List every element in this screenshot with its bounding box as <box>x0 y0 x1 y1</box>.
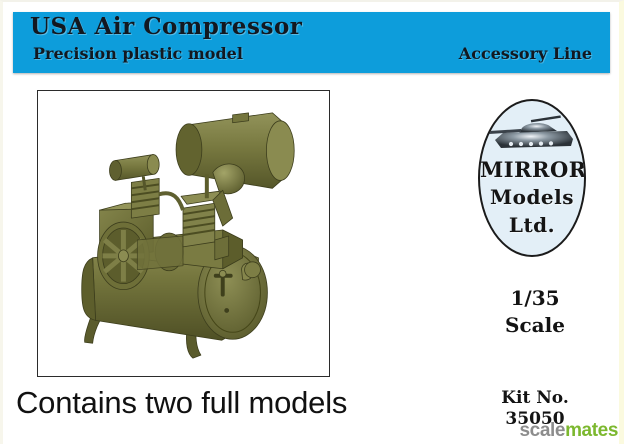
watermark-part-scale: scale <box>520 420 566 441</box>
tank-hull <box>495 131 573 148</box>
logo-line-ltd: Ltd. <box>480 213 584 237</box>
drive-belt-guard <box>137 236 183 270</box>
page-title: USA Air Compressor <box>30 13 302 40</box>
small-drum-pipe <box>143 176 145 190</box>
discharge-block <box>215 236 229 260</box>
product-box-art: USA Air Compressor Precision plastic mod… <box>0 0 624 444</box>
kit-number-label: Kit No. <box>460 388 610 409</box>
tank-valve-knob <box>219 270 226 277</box>
scale-ratio: 1/35 <box>460 285 610 312</box>
tank-drain-port <box>225 308 229 312</box>
small-drum-end <box>110 161 122 181</box>
logo-oval: MIRROR Models Ltd. <box>478 99 586 257</box>
banner-subtitle: Precision plastic model <box>33 44 243 63</box>
scalemates-watermark: scalemates <box>520 420 618 442</box>
scale-block: 1/35 Scale <box>460 285 610 339</box>
accessory-line-label: Accessory Line <box>459 44 592 63</box>
flywheel-hub <box>118 250 128 262</box>
tank-gun-barrel <box>531 115 561 122</box>
brand-logo: MIRROR Models Ltd. <box>478 99 586 257</box>
small-drum-cap <box>147 155 159 175</box>
tank-outlet-cap <box>245 262 261 278</box>
tagline: Contains two full models <box>16 385 347 421</box>
air-receiver-fitting <box>233 113 249 123</box>
air-compressor-illustration <box>38 91 329 376</box>
tank-icon <box>487 113 581 159</box>
air-receiver-end-left <box>176 124 202 176</box>
watermark-part-mates: mates <box>565 420 618 441</box>
header-banner: USA Air Compressor Precision plastic mod… <box>13 12 610 73</box>
product-image-frame <box>37 90 330 377</box>
logo-line-mirror: MIRROR <box>480 157 584 182</box>
logo-line-models: Models <box>480 185 584 209</box>
air-receiver-end-right <box>266 121 294 181</box>
scale-label: Scale <box>460 312 610 339</box>
